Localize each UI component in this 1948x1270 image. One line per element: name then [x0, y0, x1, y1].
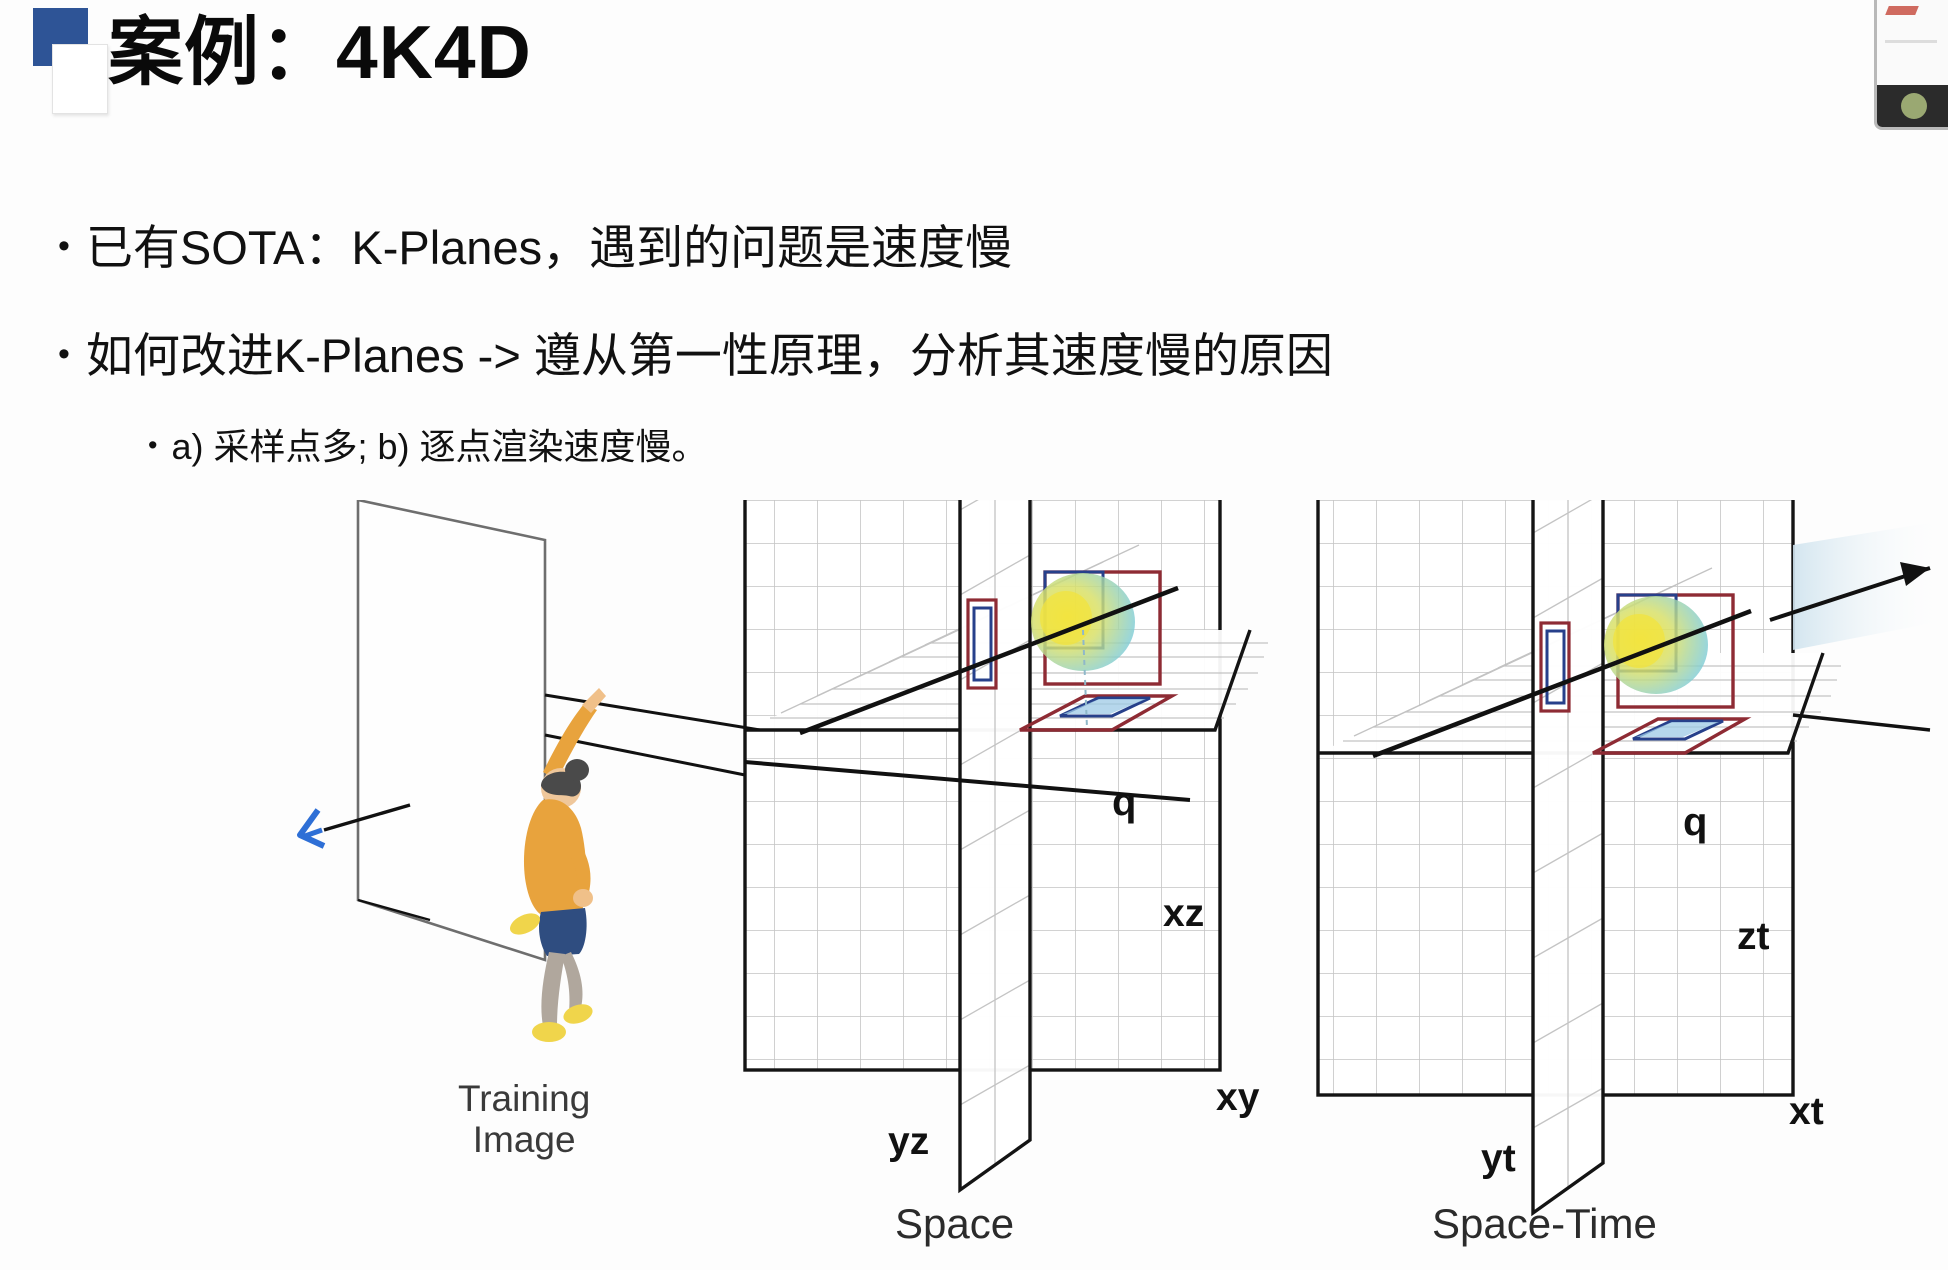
- space-caption: Space: [895, 1200, 1014, 1248]
- plane-label-yt: yt: [1481, 1137, 1516, 1181]
- slide-canvas: 案例：4K4D • 已有SOTA：K-Planes，遇到的问题是速度慢 • 如何…: [0, 0, 1948, 1270]
- blue-square-logo-icon: [33, 8, 111, 116]
- plane-label-xy: xy: [1216, 1076, 1259, 1120]
- query-label-space-time: q: [1683, 800, 1707, 845]
- avatar: [1901, 93, 1927, 119]
- plane-label-zt: zt: [1737, 915, 1770, 959]
- bullet-marker: •: [58, 222, 70, 271]
- overlay-divider: [1885, 40, 1937, 43]
- video-call-overlay[interactable]: [1874, 0, 1948, 130]
- plane-label-yz: yz: [888, 1120, 929, 1164]
- bullet-item-1: • 已有SOTA：K-Planes，遇到的问题是速度慢: [58, 222, 1012, 275]
- k-planes-decomposition-diagram: Training Image Space Space-Time xz xy yz…: [0, 500, 1948, 1270]
- bullet-text: 已有SOTA：K-Planes，遇到的问题是速度慢: [86, 222, 1012, 275]
- dancer-illustration: [485, 660, 660, 1060]
- query-label-space: q: [1112, 780, 1136, 825]
- training-image-label: Training Image: [458, 1078, 590, 1161]
- space-time-group: [1318, 500, 1948, 1213]
- space-group: [745, 500, 1268, 1190]
- overlay-preview: [1877, 0, 1948, 85]
- bullet-item-2: • 如何改进K-Planes -> 遵从第一性原理，分析其速度慢的原因: [58, 330, 1333, 383]
- plane-label-xz: xz: [1163, 892, 1204, 936]
- overlay-toolbar[interactable]: [1877, 85, 1948, 130]
- bullet-text: a) 采样点多; b) 逐点渲染速度慢。: [171, 427, 707, 467]
- bullet-item-3: • a) 采样点多; b) 逐点渲染速度慢。: [148, 427, 707, 467]
- bullet-marker: •: [148, 427, 157, 465]
- overlay-mark-icon: [1885, 6, 1919, 15]
- page-title: 案例：4K4D: [108, 13, 532, 92]
- bullet-marker: •: [58, 330, 70, 379]
- logo-square-white: [52, 44, 108, 114]
- space-time-caption: Space-Time: [1432, 1200, 1657, 1248]
- bullet-text: 如何改进K-Planes -> 遵从第一性原理，分析其速度慢的原因: [86, 330, 1333, 383]
- diagram-svg: [0, 500, 1948, 1270]
- plane-label-xt: xt: [1789, 1090, 1824, 1134]
